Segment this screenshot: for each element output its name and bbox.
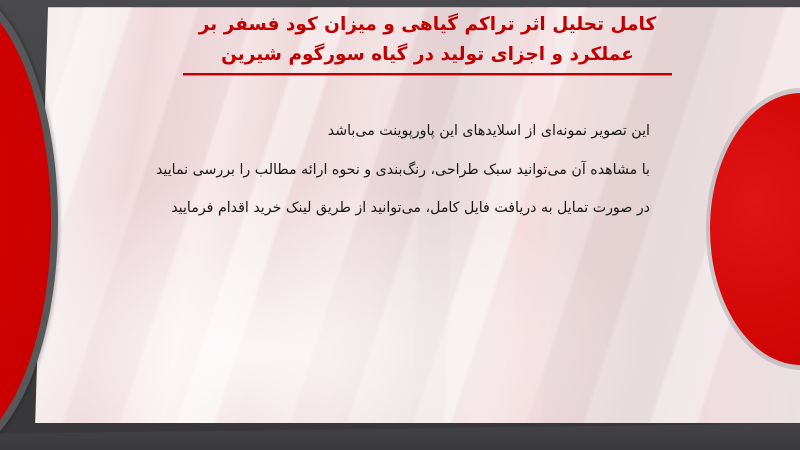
body-line-3: در صورت تمایل به دریافت فایل کامل، می‌تو…	[120, 195, 650, 222]
title-underline	[183, 73, 672, 75]
body-line-1: این تصویر نمونه‌ای از اسلایدهای این پاور…	[120, 118, 650, 145]
slide-title: کامل تحلیل اثر تراکم گیاهی و میزان کود ف…	[110, 10, 745, 75]
title-line-2: عملکرد و اجزای تولید در گیاه سورگوم شیری…	[110, 40, 745, 70]
slide-body: این تصویر نمونه‌ای از اسلایدهای این پاور…	[120, 118, 650, 222]
title-line-1: کامل تحلیل اثر تراکم گیاهی و میزان کود ف…	[110, 10, 745, 40]
presentation-slide: کامل تحلیل اثر تراکم گیاهی و میزان کود ف…	[0, 0, 800, 450]
body-line-2: با مشاهده آن می‌توانید سبک طراحی، رنگ‌بن…	[120, 157, 650, 184]
